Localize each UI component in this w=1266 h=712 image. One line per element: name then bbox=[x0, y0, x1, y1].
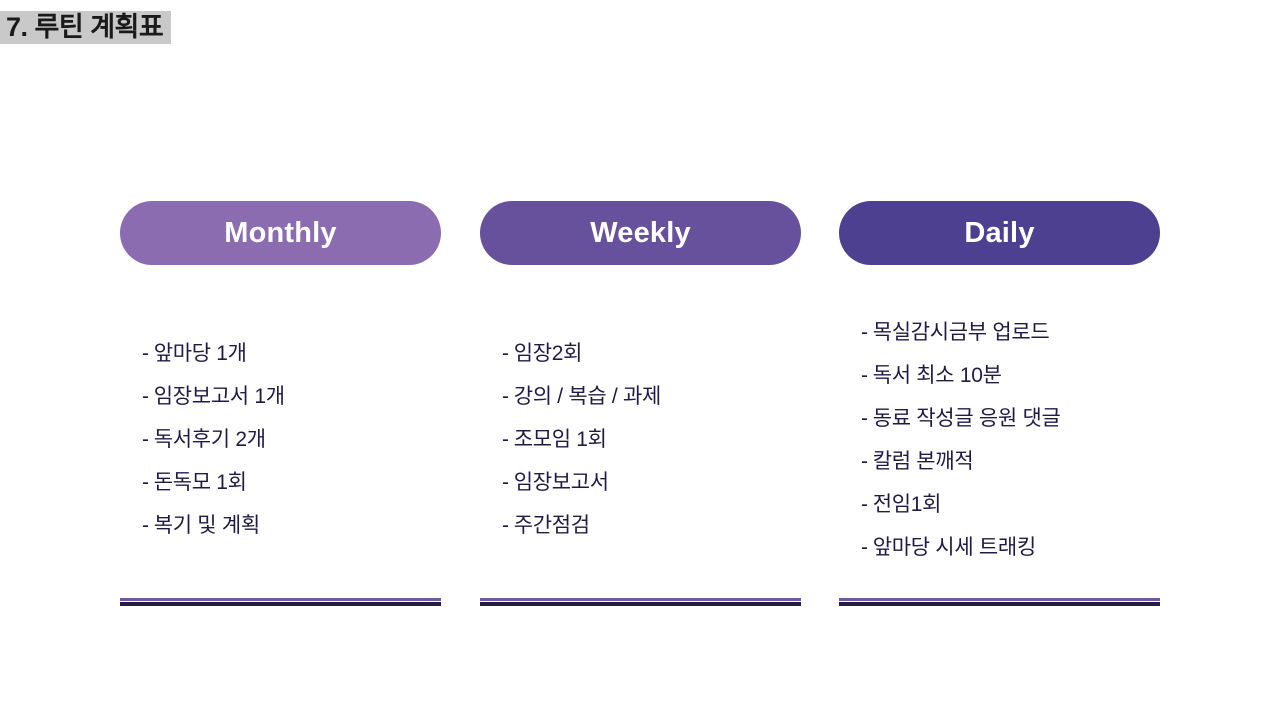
dash-bullet-icon: - bbox=[502, 332, 509, 375]
dash-bullet-icon: - bbox=[861, 526, 868, 569]
column-divider-monthly bbox=[120, 598, 441, 606]
list-item: -강의 / 복습 / 과제 bbox=[502, 375, 812, 418]
dash-bullet-icon: - bbox=[142, 461, 149, 504]
column-header-label: Weekly bbox=[590, 219, 691, 248]
column-header-label: Monthly bbox=[224, 219, 337, 248]
column-header-daily[interactable]: Daily bbox=[839, 201, 1160, 265]
column-divider-weekly bbox=[480, 598, 801, 606]
list-item-label: 주간점검 bbox=[514, 514, 590, 537]
divider-line-lower bbox=[480, 602, 801, 606]
list-item-label: 앞마당 시세 트래킹 bbox=[873, 536, 1036, 559]
item-list-daily: -목실감시금부 업로드 -독서 최소 10분 -동료 작성글 응원 댓글 -칼럼… bbox=[861, 311, 1171, 569]
dash-bullet-icon: - bbox=[502, 504, 509, 547]
list-item-label: 목실감시금부 업로드 bbox=[873, 321, 1050, 344]
list-item-label: 복기 및 계획 bbox=[154, 514, 260, 537]
dash-bullet-icon: - bbox=[142, 332, 149, 375]
column-header-label: Daily bbox=[964, 219, 1034, 248]
list-item: -목실감시금부 업로드 bbox=[861, 311, 1171, 354]
list-item: -조모임 1회 bbox=[502, 418, 812, 461]
dash-bullet-icon: - bbox=[502, 418, 509, 461]
list-item-label: 독서후기 2개 bbox=[154, 428, 266, 451]
column-divider-daily bbox=[839, 598, 1160, 606]
dash-bullet-icon: - bbox=[142, 418, 149, 461]
routine-columns: Monthly -앞마당 1개 -임장보고서 1개 -독서후기 2개 -돈독모 … bbox=[120, 201, 1160, 621]
dash-bullet-icon: - bbox=[861, 311, 868, 354]
list-item: -임장보고서 1개 bbox=[142, 375, 452, 418]
column-daily: Daily -목실감시금부 업로드 -독서 최소 10분 -동료 작성글 응원 … bbox=[839, 201, 1160, 265]
list-item: -복기 및 계획 bbox=[142, 504, 452, 547]
dash-bullet-icon: - bbox=[502, 375, 509, 418]
dash-bullet-icon: - bbox=[861, 440, 868, 483]
list-item: -전임1회 bbox=[861, 483, 1171, 526]
list-item: -칼럼 본깨적 bbox=[861, 440, 1171, 483]
list-item-label: 조모임 1회 bbox=[514, 428, 607, 451]
list-item-label: 강의 / 복습 / 과제 bbox=[514, 385, 661, 408]
list-item: -동료 작성글 응원 댓글 bbox=[861, 397, 1171, 440]
dash-bullet-icon: - bbox=[502, 461, 509, 504]
column-weekly: Weekly -임장2회 -강의 / 복습 / 과제 -조모임 1회 -임장보고… bbox=[480, 201, 801, 265]
divider-line-lower bbox=[120, 602, 441, 606]
list-item: -임장2회 bbox=[502, 332, 812, 375]
list-item-label: 돈독모 1회 bbox=[154, 471, 247, 494]
list-item: -독서 최소 10분 bbox=[861, 354, 1171, 397]
column-header-monthly[interactable]: Monthly bbox=[120, 201, 441, 265]
list-item: -주간점검 bbox=[502, 504, 812, 547]
list-item-label: 임장보고서 1개 bbox=[154, 385, 285, 408]
dash-bullet-icon: - bbox=[142, 504, 149, 547]
page-title: 7. 루틴 계획표 bbox=[0, 11, 171, 44]
column-header-weekly[interactable]: Weekly bbox=[480, 201, 801, 265]
list-item-label: 임장2회 bbox=[514, 342, 582, 365]
slide-canvas: 7. 루틴 계획표 Monthly -앞마당 1개 -임장보고서 1개 -독서후… bbox=[0, 0, 1266, 712]
dash-bullet-icon: - bbox=[861, 397, 868, 440]
column-monthly: Monthly -앞마당 1개 -임장보고서 1개 -독서후기 2개 -돈독모 … bbox=[120, 201, 441, 265]
list-item: -앞마당 시세 트래킹 bbox=[861, 526, 1171, 569]
item-list-weekly: -임장2회 -강의 / 복습 / 과제 -조모임 1회 -임장보고서 -주간점검 bbox=[502, 332, 812, 547]
list-item-label: 전임1회 bbox=[873, 493, 941, 516]
list-item-label: 독서 최소 10분 bbox=[873, 364, 1002, 387]
list-item: -돈독모 1회 bbox=[142, 461, 452, 504]
list-item-label: 동료 작성글 응원 댓글 bbox=[873, 407, 1061, 430]
list-item: -앞마당 1개 bbox=[142, 332, 452, 375]
dash-bullet-icon: - bbox=[861, 354, 868, 397]
item-list-monthly: -앞마당 1개 -임장보고서 1개 -독서후기 2개 -돈독모 1회 -복기 및… bbox=[142, 332, 452, 547]
list-item-label: 칼럼 본깨적 bbox=[873, 450, 974, 473]
list-item-label: 앞마당 1개 bbox=[154, 342, 247, 365]
dash-bullet-icon: - bbox=[861, 483, 868, 526]
list-item: -임장보고서 bbox=[502, 461, 812, 504]
list-item: -독서후기 2개 bbox=[142, 418, 452, 461]
list-item-label: 임장보고서 bbox=[514, 471, 609, 494]
dash-bullet-icon: - bbox=[142, 375, 149, 418]
divider-line-lower bbox=[839, 602, 1160, 606]
